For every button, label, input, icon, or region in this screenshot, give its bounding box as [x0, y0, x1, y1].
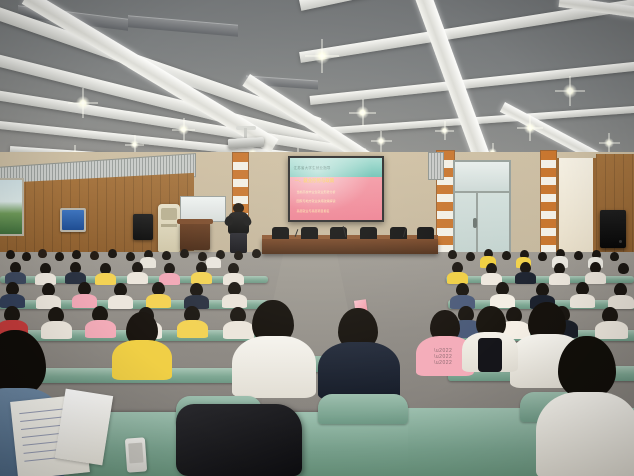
white-smartphone: [125, 437, 147, 472]
student-white-shirt: [232, 336, 316, 398]
lecture-hall-photo: 江苏省大学生就业指导 一、就业形势与政策 当前高校毕业生就业形势分析 国家与地方…: [0, 0, 634, 476]
foreground-student-head: [558, 336, 616, 398]
ceiling-spotlight: [524, 122, 536, 134]
wall-display-screen: [62, 210, 84, 230]
window-right: [556, 158, 596, 262]
ceiling-spotlight: [178, 124, 189, 135]
ceiling-spotlight: [563, 84, 577, 98]
lectern: [180, 222, 210, 250]
glass-door: [453, 160, 511, 260]
speaker-left: [133, 214, 153, 240]
speaker-right: [600, 210, 626, 248]
head-table-chair: [360, 227, 377, 239]
ceiling-spotlight: [376, 136, 386, 146]
door-handle[interactable]: [473, 218, 477, 228]
head-table-chair: [417, 227, 434, 239]
ceiling-spotlight: [130, 140, 139, 149]
ceiling-beam: [310, 59, 634, 105]
head-table: [262, 238, 438, 254]
head-table-chair: [272, 227, 289, 239]
shirt-print: \u2022 \u2022 \u2022: [434, 348, 452, 366]
student-yellow-shirt: [112, 340, 172, 380]
presenter-trousers: [230, 233, 247, 253]
wall-display-bezel: [60, 208, 86, 232]
head-table-chair: [301, 227, 318, 239]
door-transom: [455, 162, 509, 193]
ceiling-spotlight: [314, 48, 330, 64]
lectern-top: [177, 219, 213, 224]
air-conditioner-unit: [158, 204, 180, 252]
black-bag: [176, 404, 302, 476]
presenter: [224, 203, 252, 253]
window-left: [0, 178, 24, 236]
ceiling-vent: [128, 15, 238, 37]
ceiling-spotlight: [356, 106, 369, 119]
student-navy-shirt: [318, 342, 400, 400]
ceiling-projector: [228, 137, 264, 149]
projection-screen: 江苏省大学生就业指导 一、就业形势与政策 当前高校毕业生就业形势分析 国家与地方…: [288, 156, 384, 222]
ceiling-spotlight: [604, 138, 614, 148]
striped-pilaster: [540, 150, 557, 264]
student-black-overall: [478, 338, 502, 372]
ceiling-beam: [0, 40, 349, 153]
acoustic-panel-right: [428, 152, 444, 180]
ceiling-spotlight: [440, 126, 449, 135]
foreground-student-shirt: [536, 392, 634, 476]
ceiling-spotlight: [76, 96, 90, 110]
ceiling: [0, 0, 634, 175]
